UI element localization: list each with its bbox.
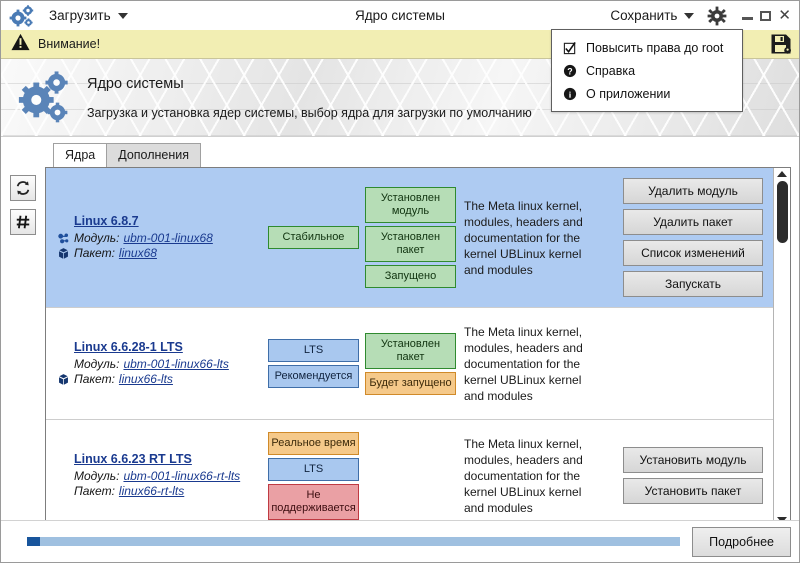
kernel-package-line: Пакет: linux66-rt-lts (56, 484, 268, 498)
table-row[interactable]: Linux 6.6.28-1 LTS Модуль: ubm-001-linux… (46, 308, 773, 420)
tab-label: Ядра (65, 148, 95, 162)
status-badge: Установлен модуль (365, 187, 456, 223)
kernel-module-line: Модуль: ubm-001-linux66-rt-lts (56, 469, 268, 483)
kernel-name-link[interactable]: Linux 6.8.7 (74, 214, 268, 228)
application-window: Загрузить Ядро системы Сохранить (0, 0, 800, 563)
badges-left: Стабильное (268, 226, 359, 249)
progress-marker (27, 537, 40, 546)
menu-item-elevate-root[interactable]: Повысить права до root (552, 36, 742, 59)
titlebar-right-group: Сохранить (606, 6, 795, 26)
package-label: Пакет: (74, 246, 115, 260)
save-menu-button[interactable]: Сохранить (606, 6, 698, 25)
warning-triangle-icon (11, 33, 30, 56)
kernel-description: The Meta linux kernel, modules, headers … (456, 318, 600, 409)
status-badge: Установлен пакет (365, 333, 456, 369)
maximize-icon[interactable] (760, 11, 771, 21)
warning-text: Внимание! (38, 37, 100, 51)
svg-text:?: ? (567, 66, 572, 76)
progress-bar (27, 537, 680, 546)
banner-subtitle: Загрузка и установка ядер системы, выбор… (87, 106, 532, 120)
status-badge: Установлен пакет (365, 226, 456, 262)
status-badge: Будет запущено (365, 372, 456, 395)
kernel-package-line: Пакет: linux68 (56, 246, 268, 260)
tab-label: Дополнения (118, 148, 189, 162)
kernel-package-line: Пакет: linux66-lts (56, 372, 268, 386)
kernel-description: The Meta linux kernel, modules, headers … (456, 178, 600, 297)
kernel-actions: Удалить модуль Удалить пакет Список изме… (600, 178, 767, 297)
title-bar: Загрузить Ядро системы Сохранить (1, 1, 799, 30)
module-link[interactable]: ubm-001-linux68 (123, 231, 212, 245)
kernel-name-link[interactable]: Linux 6.6.28-1 LTS (74, 340, 268, 354)
load-menu-button[interactable]: Загрузить (45, 6, 132, 25)
main-content: Linux 6.8.7 (1, 167, 799, 527)
kernel-list-panel: Linux 6.8.7 (45, 167, 791, 527)
settings-dropdown-menu[interactable]: Повысить права до root ? Справка i О при… (551, 29, 743, 112)
refresh-icon[interactable] (10, 175, 36, 201)
module-link[interactable]: ubm-001-linux66-rt-lts (123, 469, 240, 483)
checkbox-checked-icon (562, 40, 577, 55)
load-menu-label: Загрузить (49, 8, 111, 23)
banner-text-group: Ядро системы Загрузка и установка ядер с… (87, 76, 532, 120)
details-button[interactable]: Подробнее (692, 527, 791, 557)
scroll-up-arrow-icon[interactable] (777, 171, 787, 177)
kernel-actions: Установить модуль Установить пакет (600, 430, 767, 521)
kernel-actions (600, 318, 767, 409)
package-box-icon (56, 247, 70, 260)
module-label: Модуль: (74, 469, 119, 483)
remove-module-button[interactable]: Удалить модуль (623, 178, 763, 204)
kernel-badges: Стабильное Установлен модуль Установлен … (268, 178, 456, 297)
module-links-icon (56, 232, 70, 245)
status-badge: Стабильное (268, 226, 359, 249)
close-icon[interactable]: ✕ (778, 8, 791, 23)
hash-icon[interactable] (10, 209, 36, 235)
module-link[interactable]: ubm-001-linux66-lts (123, 357, 228, 371)
install-package-button[interactable]: Установить пакет (623, 478, 763, 504)
help-question-icon: ? (562, 63, 577, 78)
menu-item-label: Справка (586, 64, 635, 78)
kernel-badges: Реальное время LTS Не поддерживается (268, 430, 456, 521)
kernel-list: Linux 6.8.7 (46, 168, 773, 526)
kernel-name-link[interactable]: Linux 6.6.23 RT LTS (74, 452, 268, 466)
package-link[interactable]: linux68 (119, 246, 157, 260)
kernel-description: The Meta linux kernel, modules, headers … (456, 430, 600, 521)
menu-item-label: Повысить права до root (586, 41, 723, 55)
package-box-icon (56, 373, 70, 386)
tab-kernels[interactable]: Ядра (53, 143, 107, 167)
menu-item-label: О приложении (586, 87, 670, 101)
status-badge: Рекомендуется (268, 365, 359, 388)
window-controls: ✕ (742, 8, 791, 23)
kernel-module-line: Модуль: ubm-001-linux68 (56, 231, 268, 245)
chevron-down-icon (118, 13, 128, 19)
module-label: Модуль: (74, 231, 119, 245)
table-row[interactable]: Linux 6.6.23 RT LTS Модуль: ubm-001-linu… (46, 420, 773, 526)
kernel-info: Linux 6.6.28-1 LTS Модуль: ubm-001-linux… (56, 318, 268, 409)
status-badge: Реальное время (268, 432, 359, 455)
badges-right: Установлен пакет Будет запущено (365, 333, 456, 395)
package-label: Пакет: (74, 484, 115, 498)
install-module-button[interactable]: Установить модуль (623, 447, 763, 473)
status-badge: LTS (268, 458, 359, 481)
package-link[interactable]: linux66-rt-lts (119, 484, 184, 498)
gears-icon (1, 70, 87, 126)
table-row[interactable]: Linux 6.8.7 (46, 168, 773, 308)
changelog-button[interactable]: Список изменений (623, 240, 763, 266)
info-icon: i (562, 86, 577, 101)
badges-left: LTS Рекомендуется (268, 339, 359, 388)
badges-left: Реальное время LTS Не поддерживается (268, 432, 359, 520)
chevron-down-icon (684, 13, 694, 19)
minimize-icon[interactable] (742, 17, 753, 20)
status-badge: LTS (268, 339, 359, 362)
module-label: Модуль: (74, 357, 119, 371)
status-badge: Запущено (365, 265, 456, 288)
menu-item-about[interactable]: i О приложении (552, 82, 742, 105)
side-toolbar (1, 167, 45, 527)
kernel-badges: LTS Рекомендуется Установлен пакет Будет… (268, 318, 456, 409)
status-badge: Не поддерживается (268, 484, 359, 520)
badges-right: Установлен модуль Установлен пакет Запущ… (365, 187, 456, 288)
banner-title: Ядро системы (87, 76, 532, 92)
bottom-bar: Подробнее (1, 520, 799, 562)
kernel-module-line: Модуль: ubm-001-linux66-lts (56, 357, 268, 371)
floppy-save-icon[interactable] (769, 32, 793, 56)
run-button[interactable]: Запускать (623, 271, 763, 297)
tab-strip: Ядра Дополнения (1, 143, 799, 167)
vertical-scrollbar[interactable] (773, 168, 790, 526)
package-link[interactable]: linux66-lts (119, 372, 173, 386)
gears-icon (9, 5, 35, 27)
kernel-info: Linux 6.8.7 (56, 178, 268, 297)
save-menu-label: Сохранить (610, 8, 677, 23)
menu-item-help[interactable]: ? Справка (552, 59, 742, 82)
gear-icon[interactable] (707, 6, 727, 26)
kernel-info: Linux 6.6.23 RT LTS Модуль: ubm-001-linu… (56, 430, 268, 521)
scrollbar-thumb[interactable] (777, 181, 788, 243)
package-label: Пакет: (74, 372, 115, 386)
tab-addons[interactable]: Дополнения (106, 143, 201, 167)
remove-package-button[interactable]: Удалить пакет (623, 209, 763, 235)
